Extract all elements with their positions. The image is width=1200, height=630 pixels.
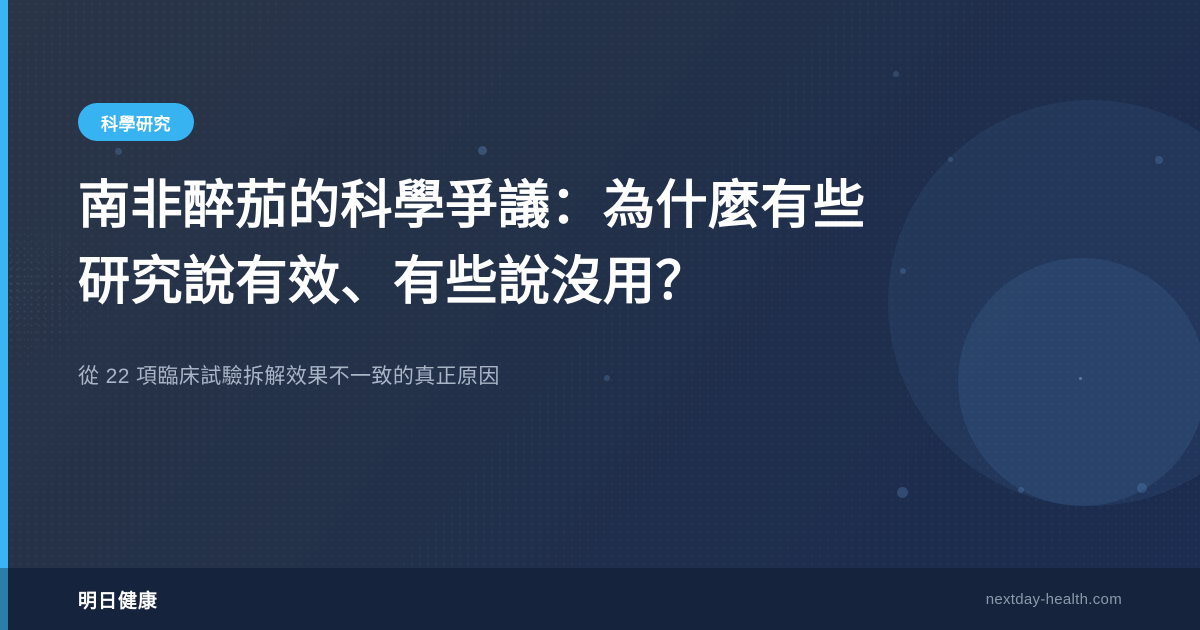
card-footer: 明日健康 nextday-health.com bbox=[0, 568, 1200, 630]
decorative-particle bbox=[1079, 377, 1082, 380]
left-accent-bar bbox=[0, 0, 8, 568]
decorative-particle bbox=[1018, 487, 1024, 493]
footer-site-url: nextday-health.com bbox=[986, 591, 1122, 608]
decorative-particle bbox=[1155, 156, 1163, 164]
category-badge[interactable]: 科學研究 bbox=[78, 103, 194, 141]
decorative-particle bbox=[1137, 483, 1147, 493]
page-title: 南非醉茄的科學爭議：為什麼有些研究說有效、有些說沒用？ bbox=[78, 168, 908, 320]
left-accent-bar-footer bbox=[0, 568, 8, 630]
page-subtitle: 從 22 項臨床試驗拆解效果不一致的真正原因 bbox=[78, 362, 838, 392]
footer-brand-name: 明日健康 bbox=[78, 586, 158, 613]
card-content: 科學研究 南非醉茄的科學爭議：為什麼有些研究說有效、有些說沒用？ 從 22 項臨… bbox=[78, 0, 958, 568]
decorative-circle-inner bbox=[958, 258, 1200, 506]
social-share-card: 科學研究 南非醉茄的科學爭議：為什麼有些研究說有效、有些說沒用？ 從 22 項臨… bbox=[0, 0, 1200, 630]
